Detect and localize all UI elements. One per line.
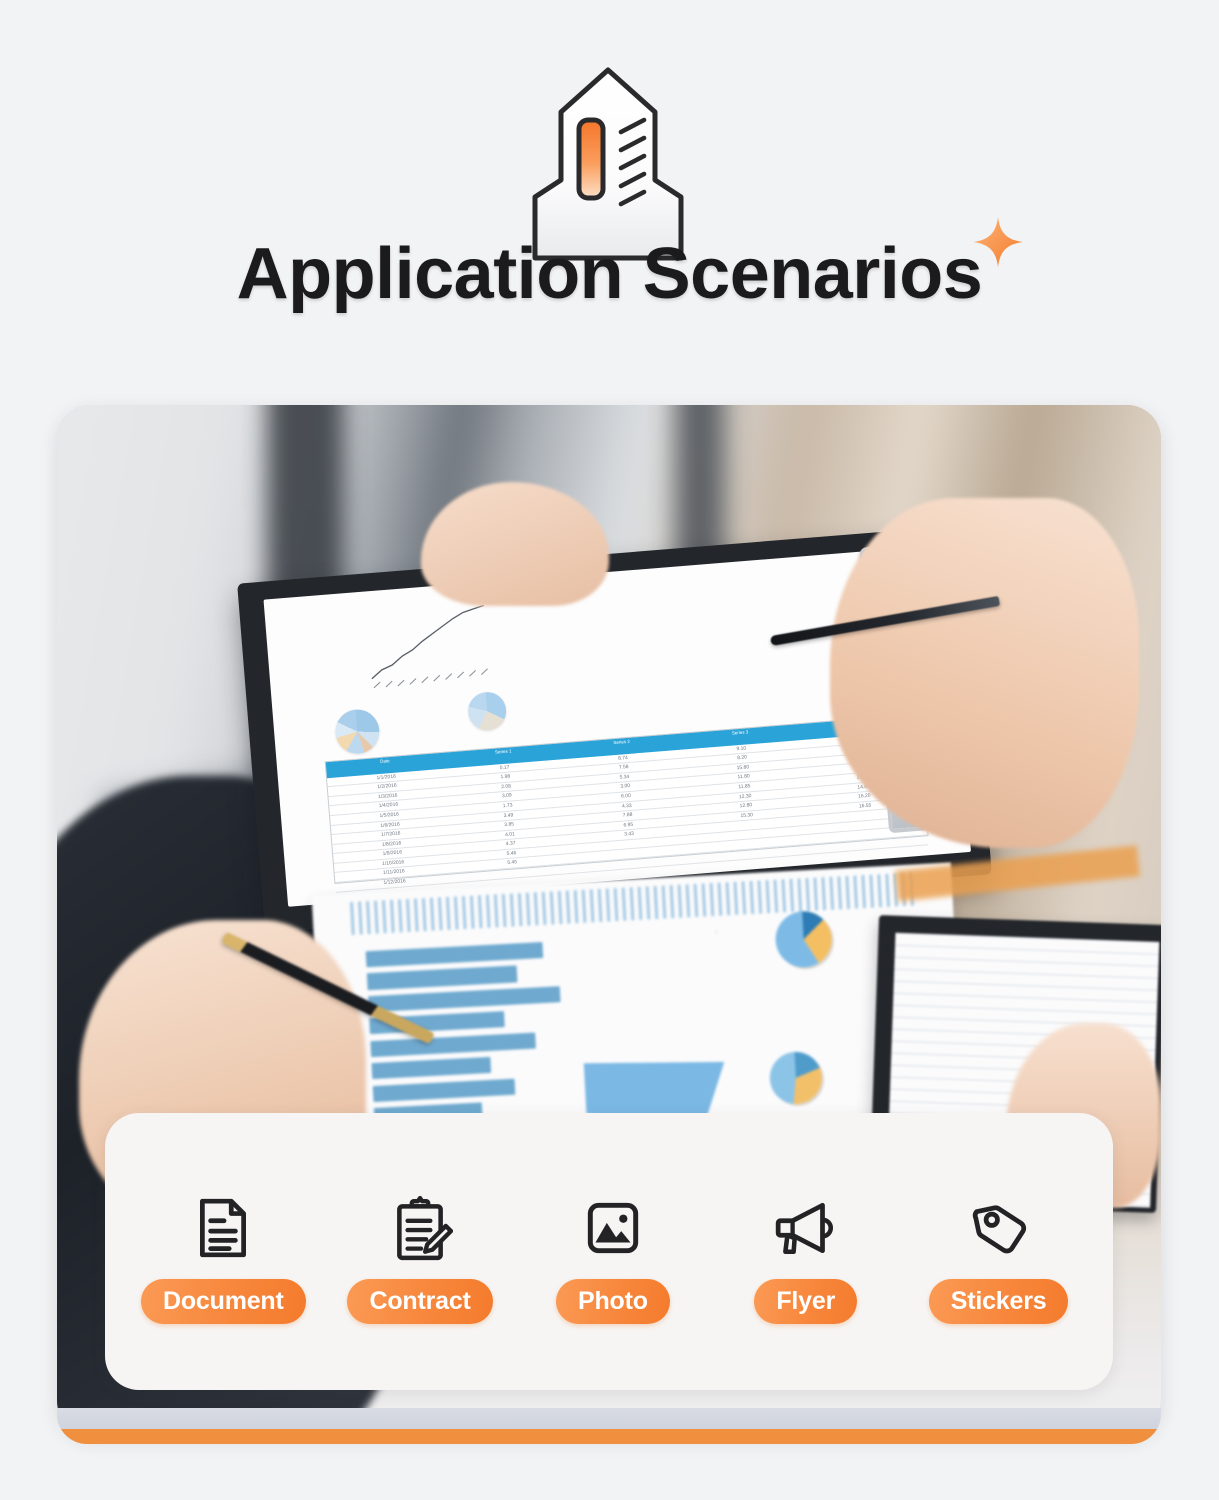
megaphone-icon [769, 1191, 843, 1265]
tag-icon [962, 1191, 1036, 1265]
scenario-badge-row: Document Con [105, 1113, 1113, 1390]
bar-grey [651, 731, 661, 732]
bar-pair [589, 735, 612, 737]
bar-blue [768, 722, 778, 723]
image-icon [576, 1191, 650, 1265]
badge-photo[interactable]: Photo [534, 1179, 691, 1324]
bar-blue [589, 736, 599, 737]
h-bar [368, 986, 561, 1012]
badge-label[interactable]: Photo [556, 1279, 670, 1324]
badge-label[interactable]: Document [141, 1279, 306, 1324]
bar-grey [600, 735, 610, 736]
badge-label[interactable]: Flyer [754, 1279, 857, 1324]
bar-pair [768, 721, 791, 723]
h-bar [367, 965, 517, 989]
hand-with-pen [830, 498, 1139, 848]
bar-blue [563, 738, 573, 739]
page-title: Application Scenarios [237, 234, 983, 314]
badge-stickers[interactable]: Stickers [920, 1179, 1077, 1324]
bar-blue [666, 730, 676, 731]
bar-blue [793, 720, 803, 721]
h-bar [373, 1078, 516, 1102]
bar-blue [640, 732, 650, 733]
badge-label[interactable]: Stickers [929, 1279, 1069, 1324]
bar-grey [779, 721, 789, 722]
scenario-badge-panel: Document Con [105, 1113, 1113, 1390]
bar-grey [575, 738, 585, 739]
application-scenarios-page: Application Scenarios [0, 0, 1219, 1500]
bar-blue [717, 726, 727, 727]
pie-chart-1 [334, 708, 381, 755]
h-bar [366, 941, 543, 967]
card-bottom-accent [57, 1408, 1161, 1444]
bar-grey [754, 723, 764, 724]
bar-blue [691, 728, 701, 729]
h-bar [370, 1032, 536, 1057]
bar-pair [640, 731, 663, 733]
badge-document[interactable]: Document [141, 1179, 306, 1324]
sparkle-icon [970, 214, 1026, 270]
badge-label[interactable]: Contract [347, 1279, 492, 1324]
network-diagram [575, 908, 721, 1022]
h-bar [372, 1057, 492, 1080]
badge-flyer[interactable]: Flyer [727, 1179, 884, 1324]
bar-grey [702, 727, 712, 728]
bar-blue [819, 718, 829, 719]
bar-pair [691, 727, 714, 729]
bar-blue [742, 724, 752, 725]
bar-grey [677, 729, 687, 730]
bar-grey [805, 719, 815, 720]
badge-contract[interactable]: Contract [342, 1179, 499, 1324]
bar-pair [717, 725, 740, 727]
bar-blue [614, 734, 624, 735]
line-chart [313, 595, 552, 694]
bar-grey [626, 733, 636, 734]
desk-pie-chart-2 [769, 1051, 824, 1106]
bar-pair [563, 737, 586, 739]
bar-pair [666, 729, 689, 731]
page-title-row: Application Scenarios [0, 238, 1219, 310]
bar-pair [793, 719, 816, 721]
building-tower-icon [497, 62, 719, 262]
bar-pair [614, 733, 637, 735]
clipboard-pen-icon [383, 1191, 457, 1265]
desk-pie-chart-1 [774, 910, 833, 969]
document-icon [186, 1191, 260, 1265]
pie-chart-2 [467, 691, 508, 732]
bar-pair [742, 723, 765, 725]
bar-grey [728, 725, 738, 726]
page-header: Application Scenarios [0, 0, 1219, 380]
